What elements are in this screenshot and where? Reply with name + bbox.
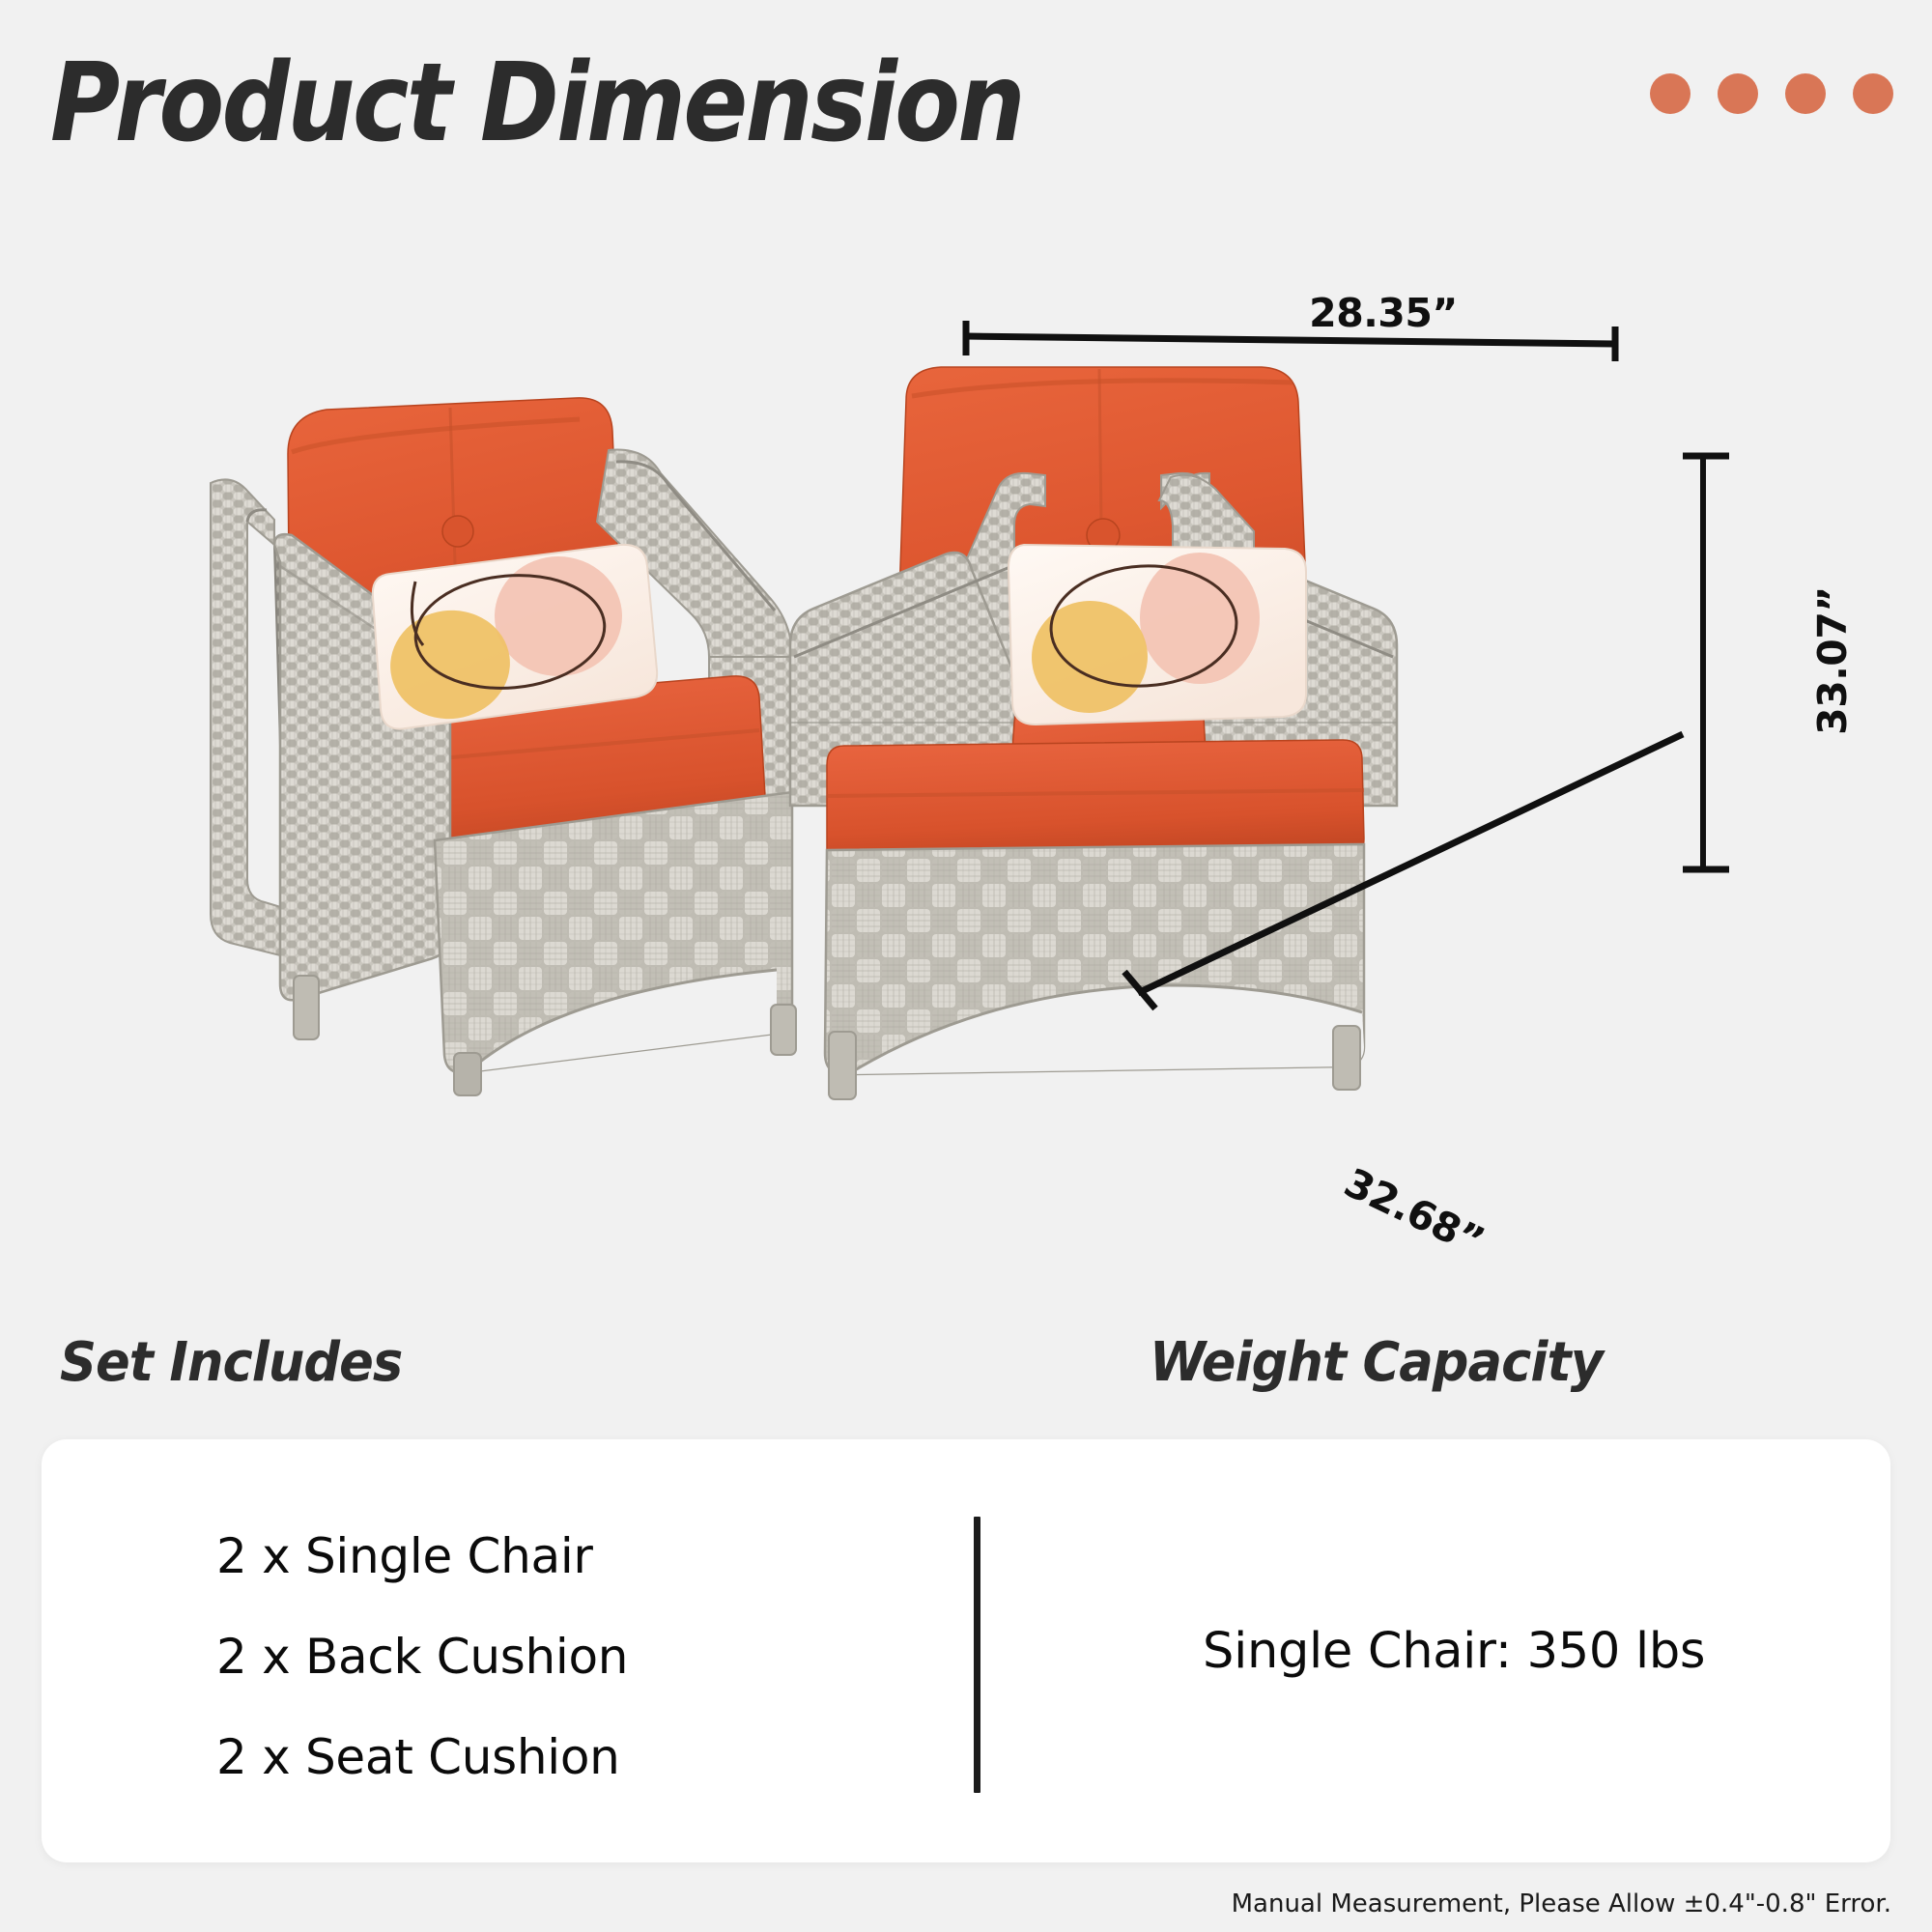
set-includes-list: 2 x Single Chair 2 x Back Cushion 2 x Se… xyxy=(216,1532,893,1781)
decorative-dot-group xyxy=(1650,73,1893,114)
product-illustration-stage xyxy=(0,193,1932,1285)
set-includes-heading: Set Includes xyxy=(60,1331,402,1394)
list-item: 2 x Back Cushion xyxy=(216,1633,893,1681)
base-skirt-right-chair xyxy=(825,844,1364,1074)
weight-capacity-heading: Weight Capacity xyxy=(1150,1331,1603,1394)
accent-pillow-right-chair xyxy=(1009,545,1306,724)
decorative-dot-icon xyxy=(1650,73,1690,114)
list-item: 2 x Single Chair xyxy=(216,1532,893,1580)
page-header: Product Dimension xyxy=(0,0,1932,193)
base-skirt-left-chair xyxy=(435,792,792,1073)
decorative-dot-icon xyxy=(1785,73,1826,114)
decorative-dot-icon xyxy=(1853,73,1893,114)
page-title: Product Dimension xyxy=(50,41,1023,166)
list-item: 2 x Seat Cushion xyxy=(216,1733,893,1781)
product-chair-right xyxy=(755,355,1432,1128)
weight-capacity-value: Single Chair: 350 lbs xyxy=(1203,1623,1705,1680)
card-divider xyxy=(974,1517,980,1793)
measurement-disclaimer: Manual Measurement, Please Allow ±0.4"-0… xyxy=(1232,1889,1891,1918)
decorative-dot-icon xyxy=(1718,73,1758,114)
